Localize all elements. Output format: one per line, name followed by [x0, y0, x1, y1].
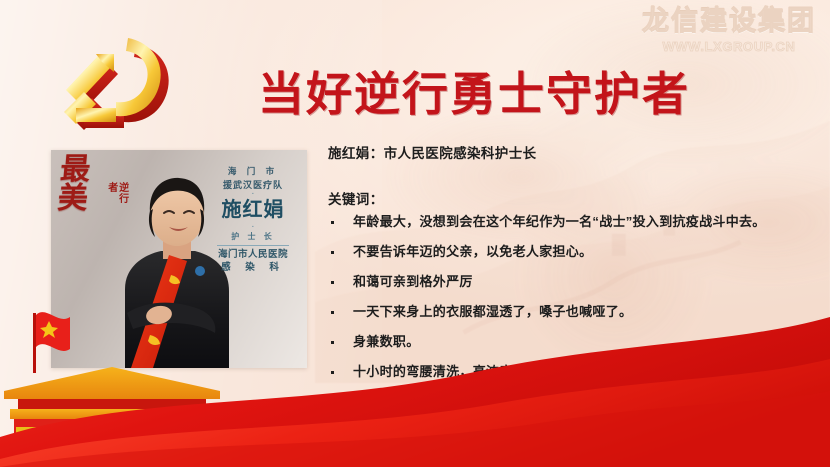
red-flag	[33, 312, 70, 373]
company-url: WWW.LXGROUP.CN	[642, 40, 816, 53]
caption-city: 海 门 市	[205, 166, 301, 177]
caption-role: 护 士 长	[205, 232, 301, 242]
company-watermark: 龙信建设集团 WWW.LXGROUP.CN	[642, 8, 816, 53]
decorative-band	[0, 287, 830, 467]
caption-department: 感 染 科	[205, 262, 301, 274]
cpc-emblem-icon	[56, 32, 184, 144]
list-item: 年龄最大，没想到会在这个年纪作为一名“战士”投入到抗疫战斗中去。	[328, 215, 820, 228]
page-title: 当好逆行勇士守护者	[258, 58, 690, 124]
caption-name: 施红娟	[205, 198, 301, 223]
poster-caption: 海 门 市 援武汉医疗队 · 施红娟 · 护 士 长 海门市人民医院 感 染 科	[205, 166, 301, 274]
caption-dot-top: ·	[205, 192, 301, 198]
lead-text: 施红娟：市人民医院感染科护士长	[328, 142, 820, 162]
caption-dot-bottom: ·	[205, 225, 301, 231]
caption-hospital: 海门市人民医院	[205, 249, 301, 261]
caption-team: 援武汉医疗队	[205, 180, 301, 191]
list-item: 不要告诉年迈的父亲，以免老人家担心。	[328, 245, 820, 258]
keywords-label: 关键词：	[328, 188, 820, 208]
caption-divider	[217, 245, 289, 246]
slide-root: 龙信建设集团 WWW.LXGROUP.CN	[0, 0, 830, 467]
company-name: 龙信建设集团	[642, 8, 816, 35]
